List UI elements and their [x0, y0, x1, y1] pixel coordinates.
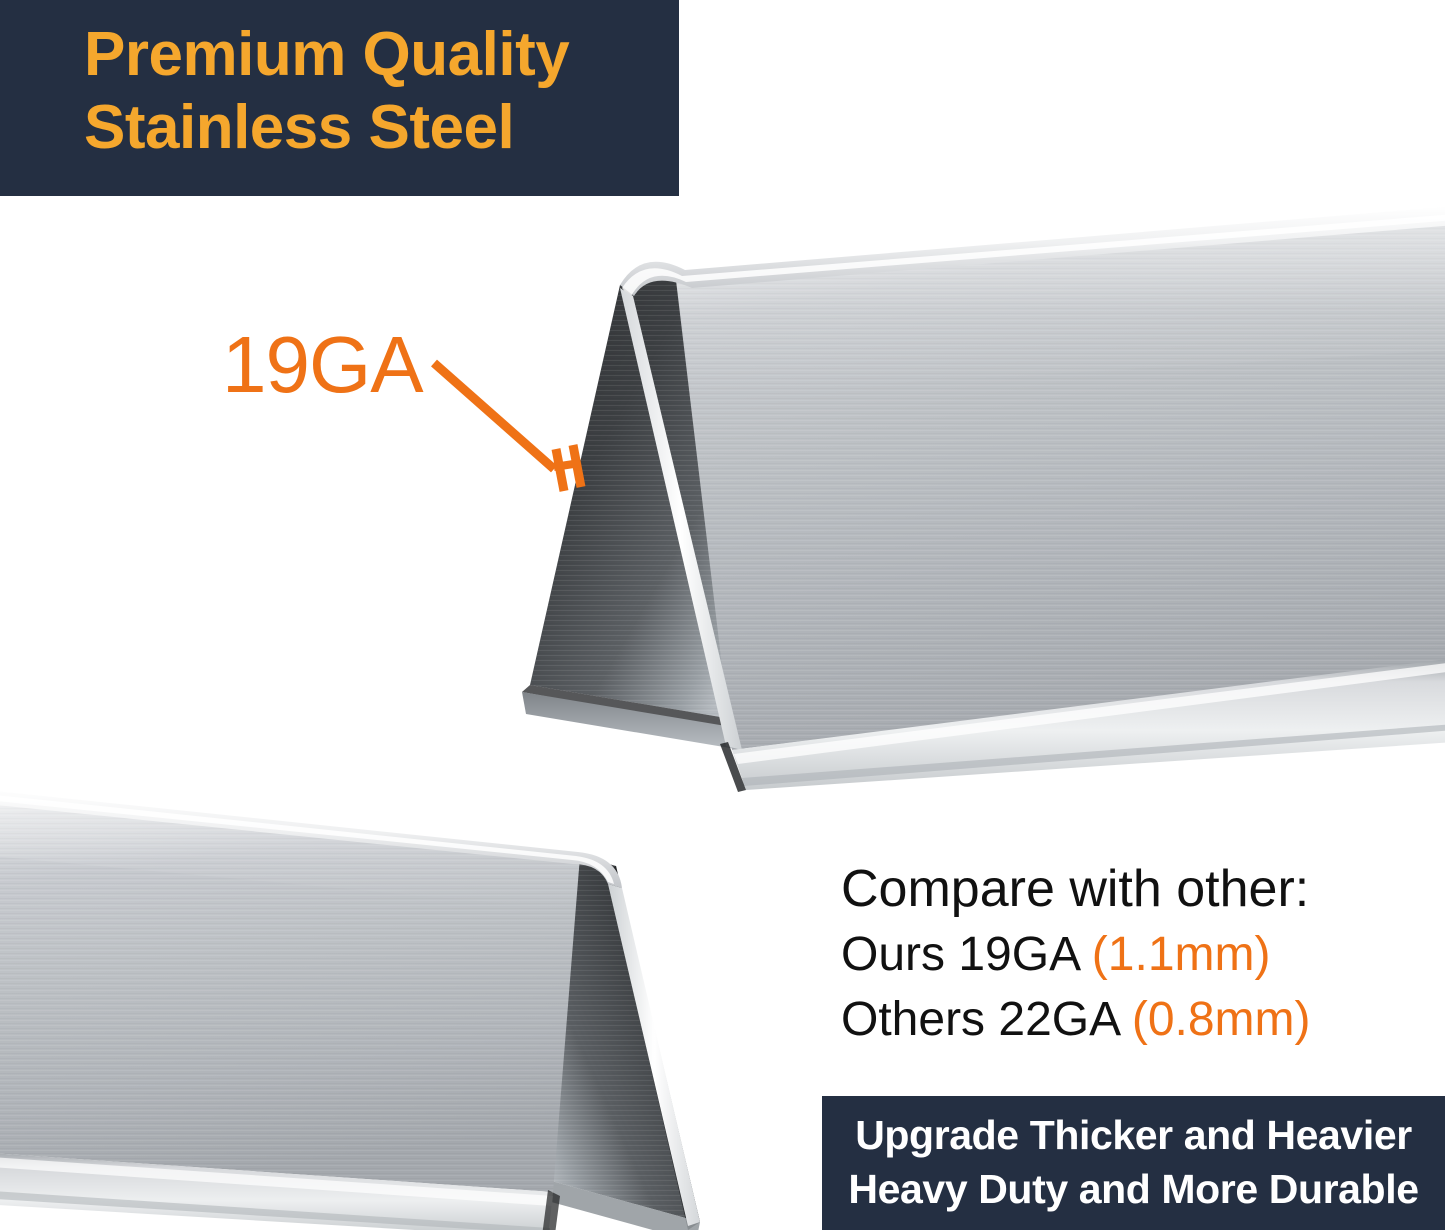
- gauge-callout-leader-line: [430, 355, 620, 515]
- compare-row-others: Others 22GA (0.8mm): [841, 987, 1401, 1052]
- compare-block: Compare with other: Ours 19GA (1.1mm) Ot…: [841, 856, 1401, 1052]
- header-badge-line2: Stainless Steel: [84, 91, 679, 164]
- product-flavorizer-bar-bottom: [0, 760, 748, 1210]
- compare-row-ours: Ours 19GA (1.1mm): [841, 922, 1401, 987]
- bottom-banner-line1: Upgrade Thicker and Heavier: [822, 1108, 1445, 1162]
- product-image-canvas: Premium Quality Stainless Steel 19GA Com…: [0, 0, 1445, 1230]
- leader-line-segment: [434, 363, 554, 469]
- compare-row-others-label: Others 22GA: [841, 993, 1118, 1046]
- compare-row-ours-label: Ours 19GA: [841, 928, 1078, 981]
- compare-row-others-value: (0.8mm): [1132, 993, 1311, 1046]
- bottom-banner-line2: Heavy Duty and More Durable: [822, 1162, 1445, 1216]
- product-flavorizer-bar-top: [470, 230, 1445, 800]
- gauge-callout-label: 19GA: [222, 325, 423, 405]
- header-badge: Premium Quality Stainless Steel: [0, 0, 679, 196]
- caliper-h-marker: [554, 445, 581, 491]
- compare-title: Compare with other:: [841, 856, 1401, 922]
- bottom-banner: Upgrade Thicker and Heavier Heavy Duty a…: [822, 1096, 1445, 1230]
- header-badge-line1: Premium Quality: [84, 18, 679, 91]
- compare-row-ours-value: (1.1mm): [1092, 928, 1271, 981]
